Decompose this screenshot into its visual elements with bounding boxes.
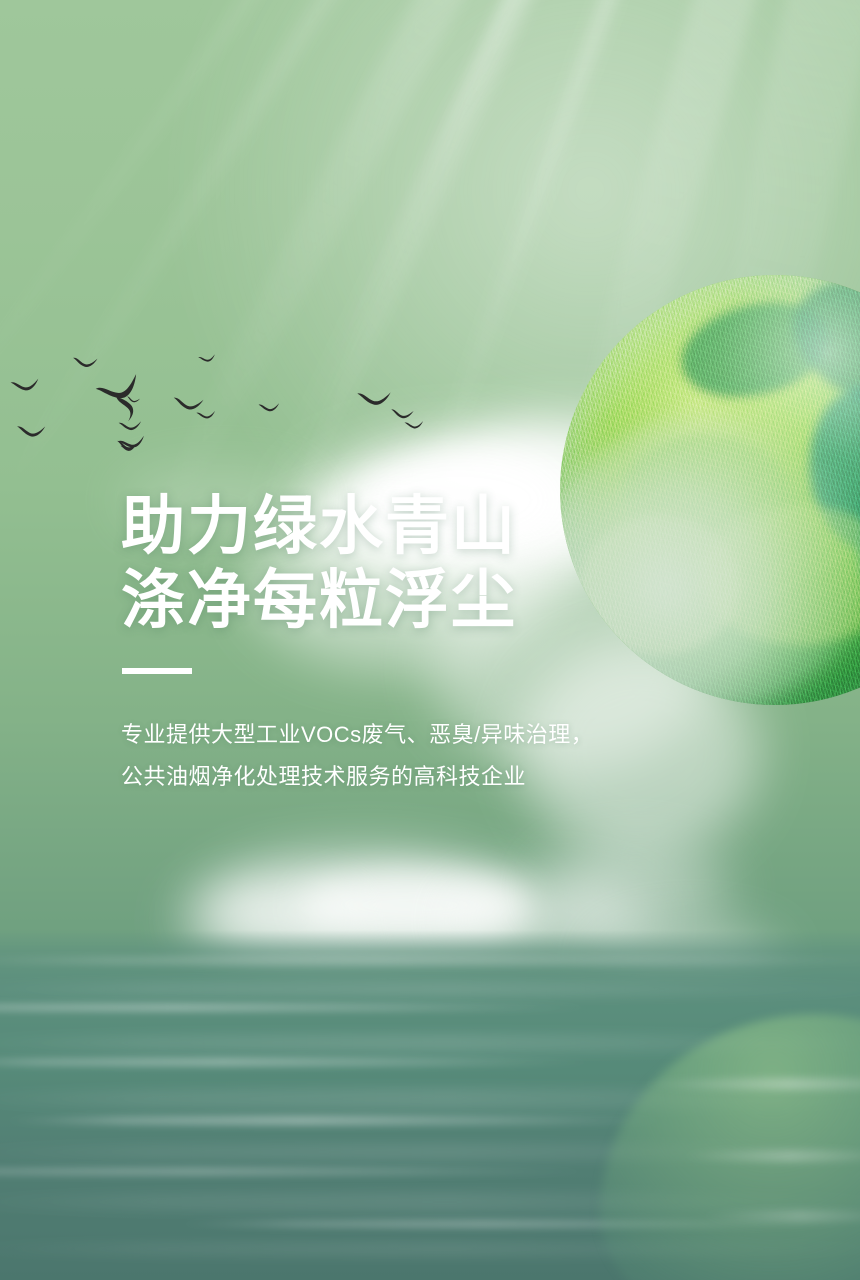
hero-banner: 助力绿水青山 涤净每粒浮尘 专业提供大型工业VOCs废气、恶臭/异味治理， 公共… [0, 0, 860, 1280]
bird-icon [404, 419, 425, 431]
subtitle-line-2: 公共油烟净化处理技术服务的高科技企业 [121, 758, 681, 796]
bird-icon [9, 376, 41, 395]
headline-line-2: 涤净每粒浮尘 [121, 563, 681, 637]
subtitle-line-1: 专业提供大型工业VOCs废气、恶臭/异味治理， [121, 716, 681, 754]
divider-rule [122, 668, 192, 674]
bird-icon [120, 444, 136, 453]
bird-icon [356, 390, 392, 409]
bird-icon [16, 423, 47, 440]
hero-copy: 助力绿水青山 涤净每粒浮尘 专业提供大型工业VOCs废气、恶臭/异味治理， 公共… [121, 489, 681, 796]
bird-icon [72, 355, 99, 371]
bird-icon [196, 409, 217, 421]
bird-icon [258, 402, 280, 415]
headline-line-1: 助力绿水青山 [121, 489, 681, 563]
